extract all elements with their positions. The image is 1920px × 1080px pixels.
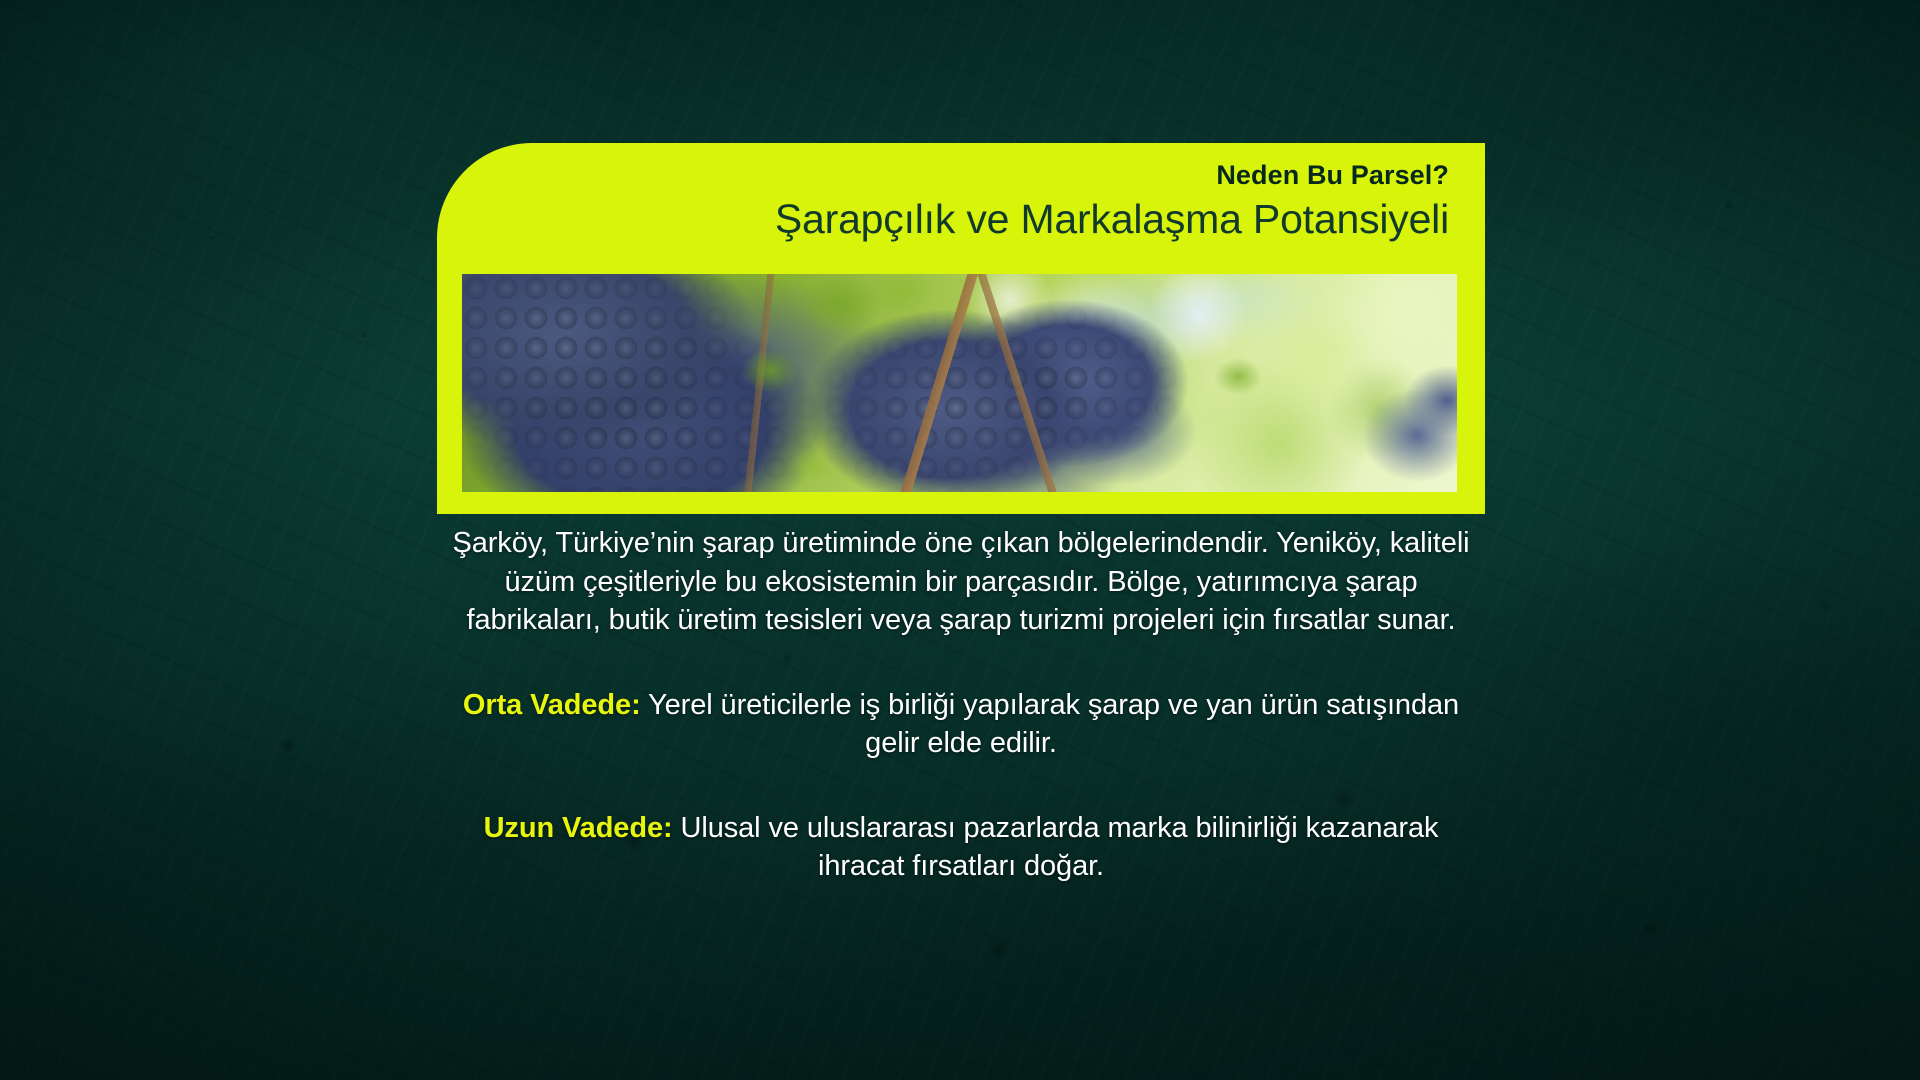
intro-paragraph: Şarköy, Türkiye’nin şarap üretiminde öne… <box>437 524 1485 640</box>
card-heading-group: Neden Bu Parsel? Şarapçılık ve Markalaşm… <box>437 143 1485 243</box>
term-label-long: Uzun Vadede: <box>484 812 673 844</box>
term-label-medium: Orta Vadede: <box>463 689 641 721</box>
card-headline: Şarapçılık ve Markalaşma Potansiyeli <box>437 196 1449 243</box>
card-kicker: Neden Bu Parsel? <box>437 161 1449 191</box>
slide-stage: Neden Bu Parsel? Şarapçılık ve Markalaşm… <box>0 0 1920 1080</box>
body-copy: Şarköy, Türkiye’nin şarap üretiminde öne… <box>437 524 1485 886</box>
term-block-medium: Orta Vadede: Yerel üreticilerle iş birli… <box>437 686 1485 763</box>
term-text-long: Ulusal ve uluslararası pazarlarda marka … <box>673 812 1439 883</box>
photo-vine-leaves <box>462 274 1457 492</box>
term-text-medium: Yerel üreticilerle iş birliği yapılarak … <box>641 689 1459 760</box>
term-block-long: Uzun Vadede: Ulusal ve uluslararası paza… <box>437 809 1485 886</box>
vineyard-grapes-photo <box>462 274 1457 492</box>
highlight-card: Neden Bu Parsel? Şarapçılık ve Markalaşm… <box>437 143 1485 514</box>
